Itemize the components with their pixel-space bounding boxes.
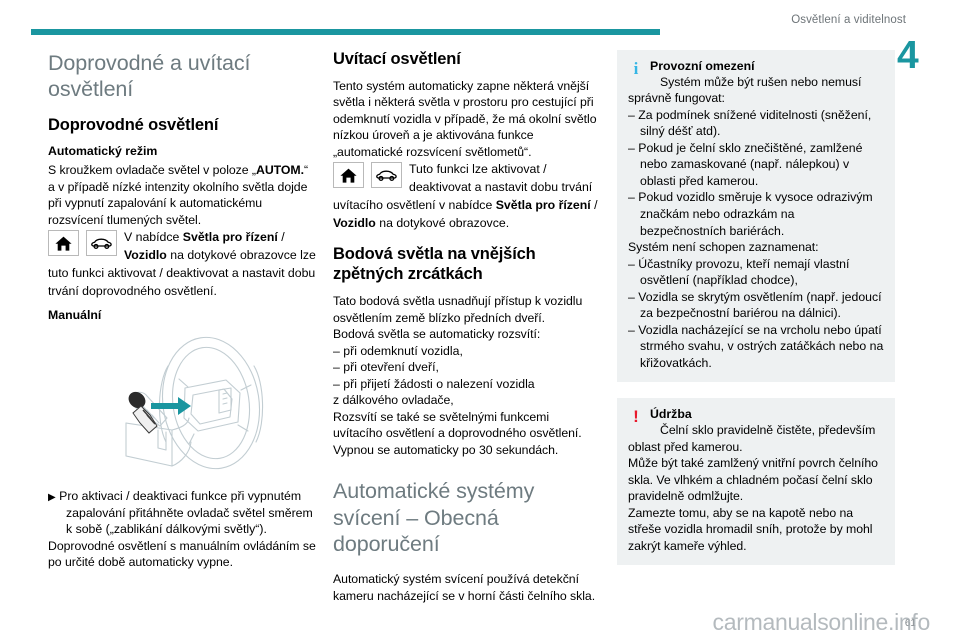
note-list-item: – Pokud je čelní sklo znečištěné, zamlže… <box>628 140 884 190</box>
heading-automaticke-systemy: Automatické systémy svícení – Obecná dop… <box>333 478 601 557</box>
procedure-marker: ▶ <box>48 492 56 503</box>
paragraph-auto-mode-text: S kroužkem ovladače světel v poloze „AUT… <box>48 163 308 227</box>
note-list-item: – Vozidla se skrytým osvětlením (např. j… <box>628 289 884 322</box>
note-title: Údržba <box>628 407 884 422</box>
note-line: Čelní sklo pravidelně čistěte, především… <box>628 422 884 455</box>
note-box-provozni-omezeni: i Provozní omezení Systém může být rušen… <box>617 50 895 382</box>
car-icon[interactable] <box>86 230 117 256</box>
note-line: Zamezte tomu, aby se na kapotě nebo na s… <box>628 505 884 555</box>
note-list-item: – Za podmínek snížené viditelnosti (sněž… <box>628 107 884 140</box>
manual-page: Osvětlení a viditelnost 4 Doprovodné a u… <box>0 0 960 640</box>
page-title: Doprovodné a uvítací osvětlení <box>48 50 316 102</box>
paragraph-manual-auto-off: Doprovodné osvětlení s manuálním ovládán… <box>48 538 316 571</box>
note-list-item: – Vozidla nacházející se na vrcholu nebo… <box>628 322 884 372</box>
list-item: – při otevření dveří, <box>333 359 601 376</box>
note-line: Může být také zamlžený vnitřní povrch če… <box>628 455 884 505</box>
heading-automaticky-rezim: Automatický režim <box>48 144 316 158</box>
paragraph-spot-lamps-trigger: Bodová světla se automaticky rozsvítí: <box>333 326 601 343</box>
home-icon[interactable] <box>333 162 364 188</box>
steering-wheel-illustration <box>48 330 316 478</box>
home-icon[interactable] <box>48 230 79 256</box>
paragraph-spot-lamps-also: Rozsvítí se také se světelnými funkcemi … <box>333 409 601 442</box>
chapter-number: 4 <box>897 36 919 75</box>
info-icon: i <box>628 60 644 77</box>
note-box-udrzba: ! Údržba Čelní sklo pravidelně čistěte, … <box>617 398 895 565</box>
header-rule <box>31 29 660 35</box>
note-list-item: – Účastníky provozu, kteří nemají vlastn… <box>628 256 884 289</box>
paragraph-spot-lamps-timeout: Vypnou se automaticky po 30 sekundách. <box>333 442 601 459</box>
paragraph-welcome-lighting: Tento systém automaticky zapne některá v… <box>333 78 601 161</box>
note-title: Provozní omezení <box>628 59 884 74</box>
icon-run-menu-path-1: V nabídce Světla pro řízení / Vozidlo na… <box>48 228 316 300</box>
list-item: – při odemknutí vozidla, <box>333 343 601 360</box>
warning-icon: ! <box>628 408 644 425</box>
watermark: carmanualsonline.info <box>713 609 930 636</box>
procedure-step: ▶ Pro aktivaci / deaktivaci funkce při v… <box>48 488 316 538</box>
procedure-text: Pro aktivaci / deaktivaci funkce při vyp… <box>59 489 313 536</box>
note-list-item: – Pokud vozidlo směruje k vysoce odraziv… <box>628 189 884 239</box>
column-one: Doprovodné a uvítací osvětlení Doprovodn… <box>48 50 316 571</box>
heading-manualni: Manuální <box>48 308 316 322</box>
heading-bodova-svetla: Bodová světla na vnějších zpětných zrcát… <box>333 245 601 285</box>
list-item: – při přijetí žádosti o nalezení vozidla <box>333 376 601 393</box>
running-header-title: Osvětlení a viditelnost <box>791 14 906 26</box>
paragraph-detection-camera: Automatický systém svícení používá detek… <box>333 571 601 604</box>
car-icon[interactable] <box>371 162 402 188</box>
icon-run-menu-path-2: Tuto funkci lze aktivovat / deaktivovat … <box>333 160 601 232</box>
list-item-continuation: z dálkového ovladače, <box>333 392 601 409</box>
column-three: i Provozní omezení Systém může být rušen… <box>617 50 895 565</box>
note-line: Systém může být rušen nebo nemusí správn… <box>628 74 884 107</box>
heading-doprovodne-osvetleni: Doprovodné osvětlení <box>48 116 316 136</box>
paragraph-spot-lamps-intro: Tato bodová světla usnadňují přístup k v… <box>333 293 601 326</box>
note-line: Systém není schopen zaznamenat: <box>628 239 884 256</box>
paragraph-auto-mode: S kroužkem ovladače světel v poloze „AUT… <box>48 162 316 228</box>
heading-uvitaci-osvetleni: Uvítací osvětlení <box>333 50 601 70</box>
column-two: Uvítací osvětlení Tento systém automatic… <box>333 50 601 604</box>
